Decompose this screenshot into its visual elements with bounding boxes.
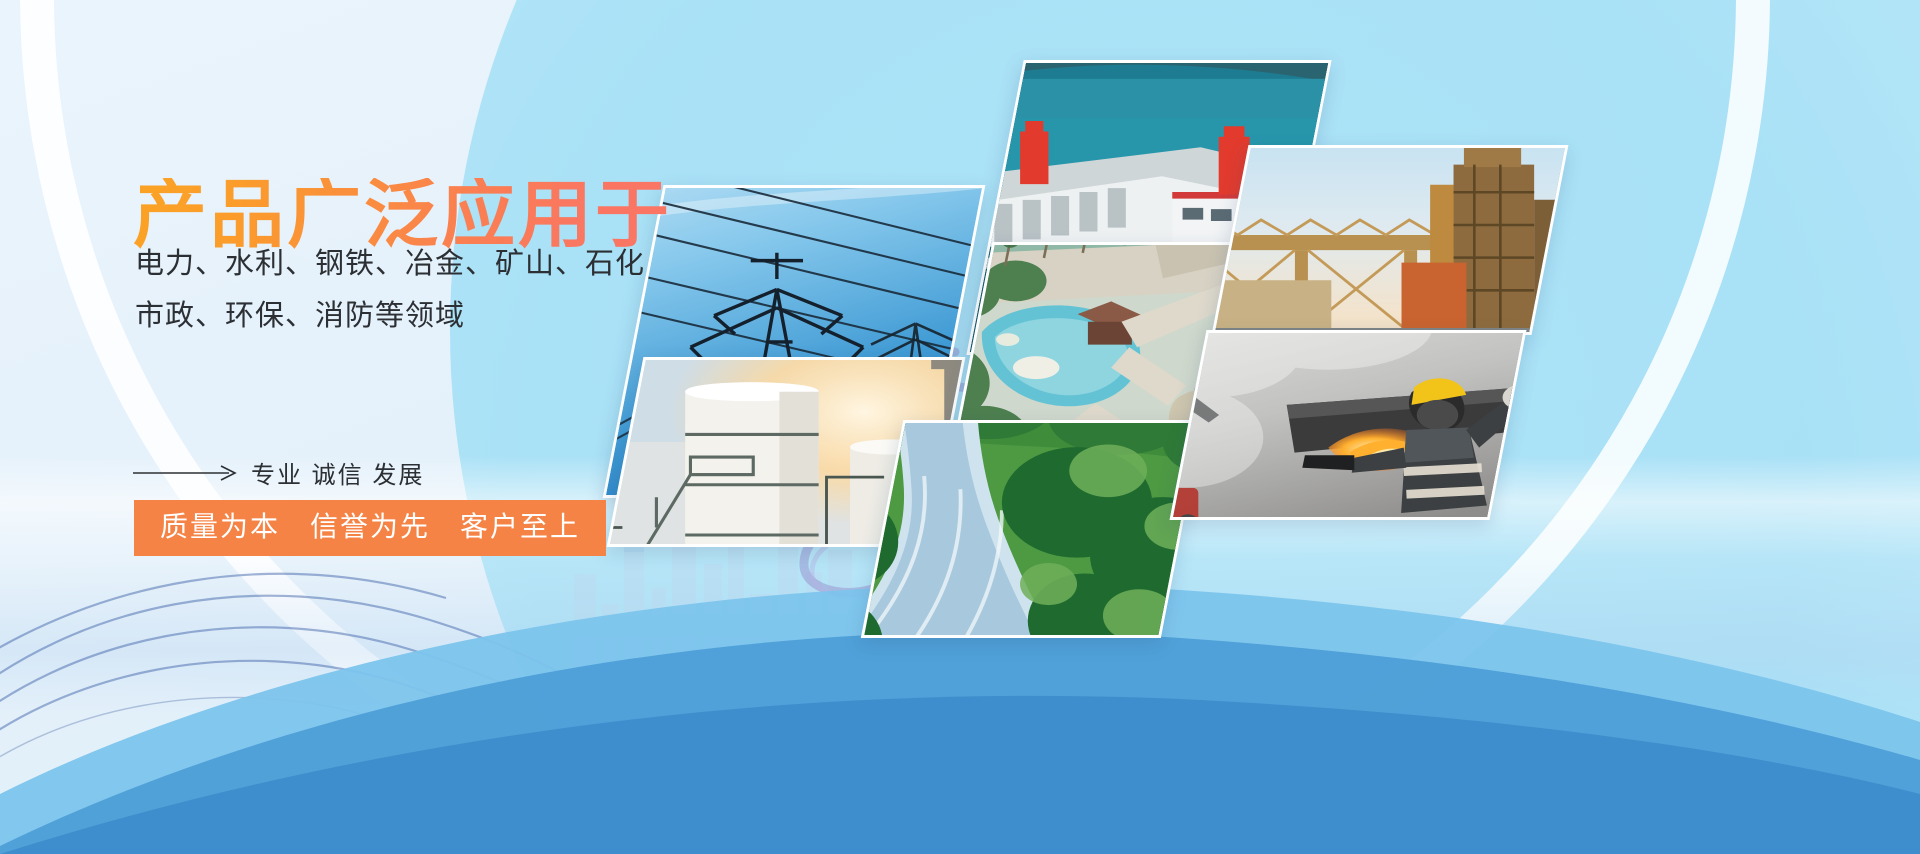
steel-mill-art	[1212, 145, 1569, 335]
mangrove-river-art	[861, 420, 1203, 638]
subtitle-line-1: 电力、水利、钢铁、冶金、矿山、石化	[135, 250, 645, 279]
collage-photo-mangrove-river-ecology	[861, 420, 1203, 638]
tagline-row: 专业 诚信 发展	[133, 455, 424, 490]
long-right-arrow-icon	[133, 464, 241, 482]
slogan-badge: 质量为本 信誉为先 客户至上	[134, 500, 606, 556]
collage-photo-firefighter-training	[1170, 330, 1527, 520]
tagline-text: 专业 诚信 发展	[251, 455, 424, 490]
banner-root: 产品广泛应用于 电力、水利、钢铁、冶金、矿山、石化 市政、环保、消防等领域 专业…	[0, 0, 1920, 854]
subtitle-line-2: 市政、环保、消防等领域	[135, 302, 465, 331]
page-title: 产品广泛应用于	[133, 178, 672, 252]
banner-text-block: 产品广泛应用于 电力、水利、钢铁、冶金、矿山、石化 市政、环保、消防等领域 专业…	[0, 0, 760, 854]
photo-collage	[600, 0, 1920, 854]
firefighter-art	[1170, 330, 1527, 520]
collage-photo-steel-mill-blast-furnace	[1212, 145, 1569, 335]
